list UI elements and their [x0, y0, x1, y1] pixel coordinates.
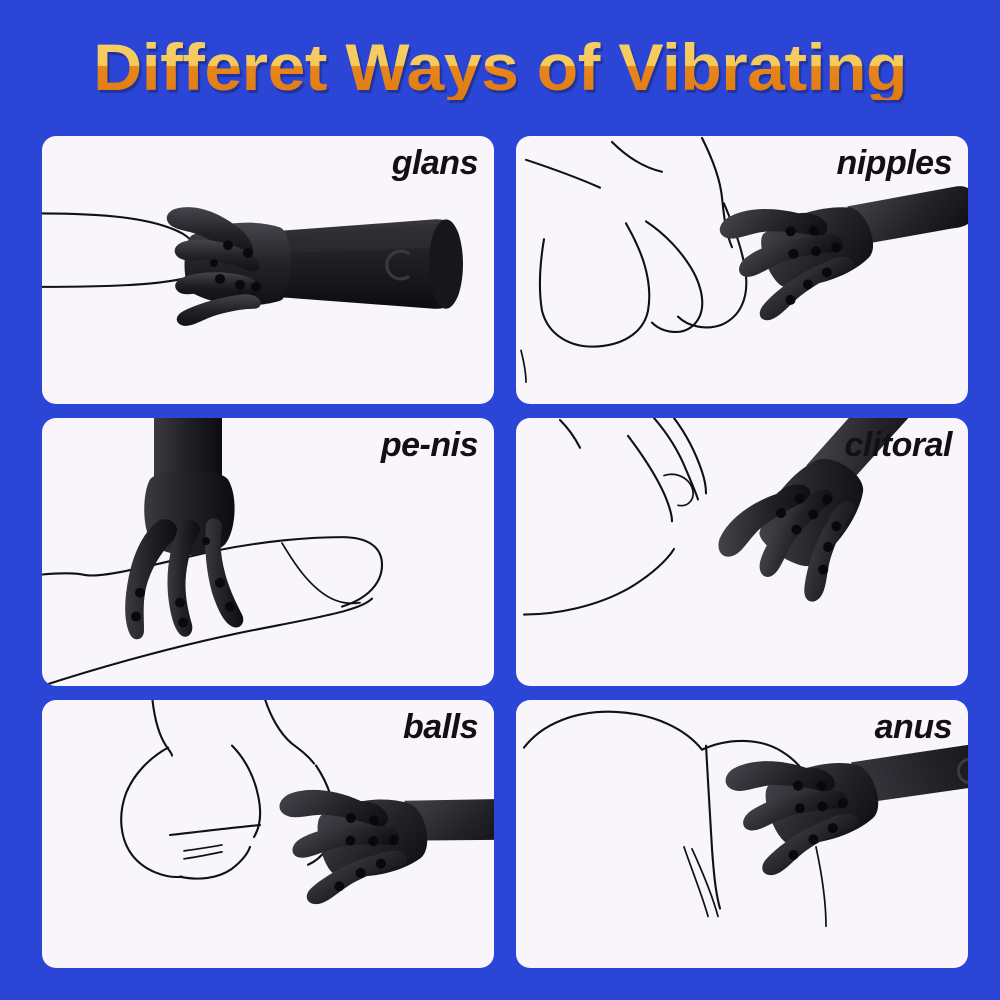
page-title: Differet Ways of Vibrating: [93, 34, 907, 100]
cards-grid: glans: [42, 136, 968, 968]
vibrator-device: [277, 739, 494, 908]
vibrator-device: [167, 207, 463, 326]
card-glans[interactable]: glans: [42, 136, 494, 404]
title-container: Differet Ways of Vibrating: [0, 34, 1000, 100]
card-label-nipples: nipples: [836, 144, 952, 183]
card-label-balls: balls: [403, 708, 478, 747]
card-anus[interactable]: anus: [516, 700, 968, 968]
vibrator-device: [125, 418, 243, 639]
card-balls[interactable]: balls: [42, 700, 494, 968]
card-clitoral[interactable]: clitoral: [516, 418, 968, 686]
poster-root: Differet Ways of Vibrating: [0, 0, 1000, 1000]
card-label-penis: pe-nis: [381, 426, 478, 465]
card-penis[interactable]: pe-nis: [42, 418, 494, 686]
card-label-anus: anus: [875, 708, 952, 747]
breasts-body-outline: [521, 138, 746, 382]
card-nipples[interactable]: nipples: [516, 136, 968, 404]
card-label-clitoral: clitoral: [845, 426, 952, 465]
card-label-glans: glans: [392, 144, 478, 183]
